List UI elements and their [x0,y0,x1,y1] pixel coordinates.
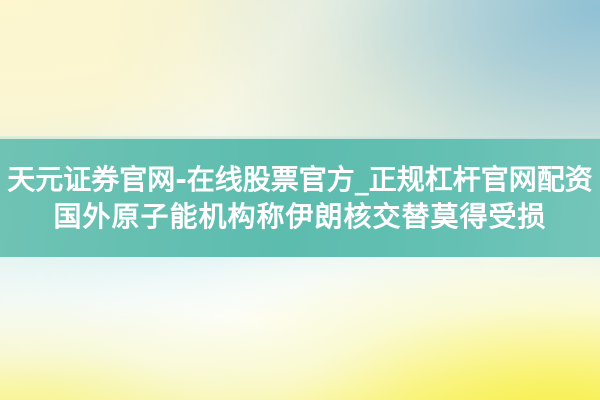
banner-image: 天元证券官网-在线股票官方_正规杠杆官网配资 国外原子能机构称伊朗核交替莫得受损 [0,0,600,400]
band-top-edge [0,136,600,139]
headline-line-1: 天元证券官网-在线股票官方_正规杠杆官网配资 [0,163,600,196]
headline-band: 天元证券官网-在线股票官方_正规杠杆官网配资 国外原子能机构称伊朗核交替莫得受损 [0,139,600,257]
headline-line-2: 国外原子能机构称伊朗核交替莫得受损 [0,200,600,233]
